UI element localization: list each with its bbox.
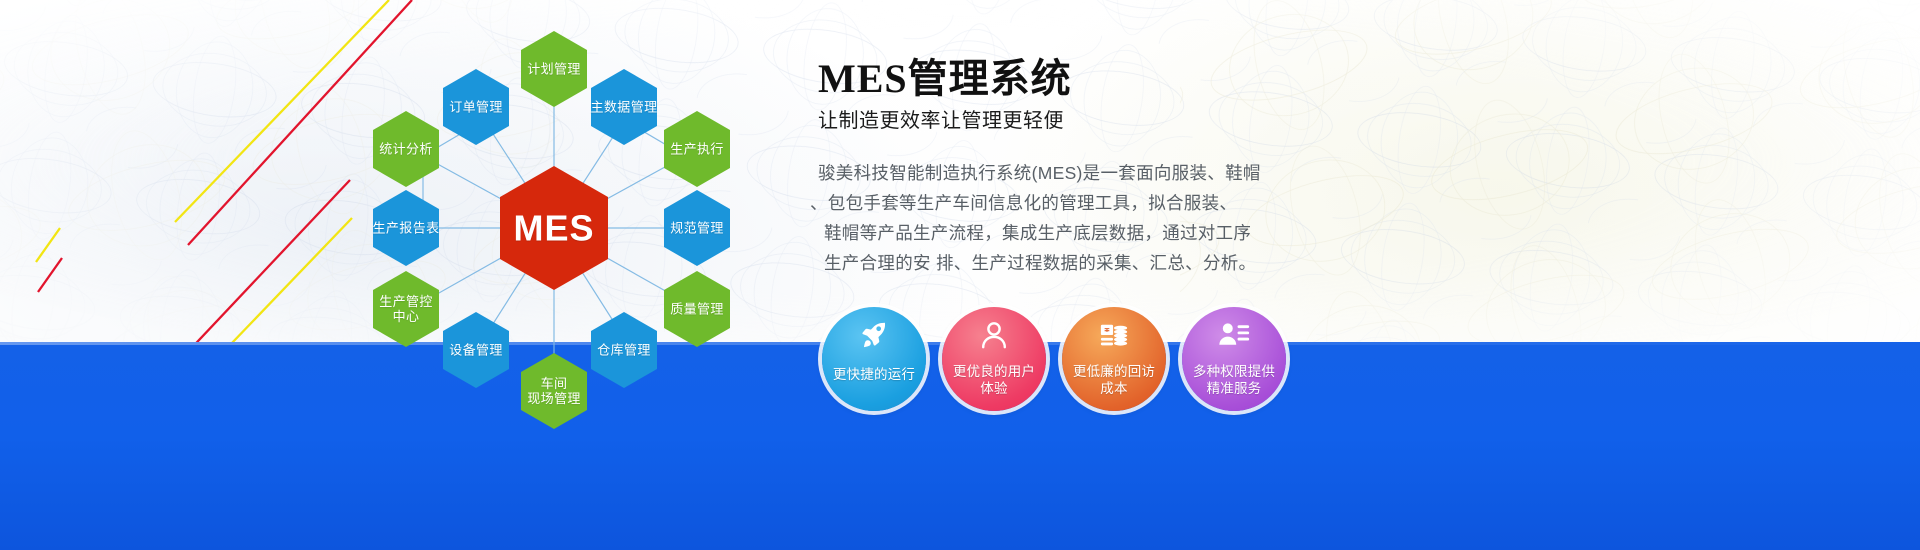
banner-stage: 计划管理 主数据管理 生产执行 规范管理 质量管理 仓库管理 车间 现场管理 设… <box>0 0 1920 550</box>
banner-paragraph: 骏美科技智能制造执行系统(MES)是一套面向服装、鞋帽 、包包手套等生产车间信息… <box>818 158 1278 278</box>
hex-node-center[interactable] <box>500 166 608 290</box>
rocket-icon <box>857 318 891 352</box>
hex-node-11[interactable] <box>443 69 509 145</box>
hex-node-9[interactable] <box>373 190 439 266</box>
badge-label-permission-service: 多种权限提供 精准服务 <box>1193 363 1275 397</box>
hex-node-5[interactable] <box>591 312 657 388</box>
badge-permission-service[interactable]: 多种权限提供 精准服务 <box>1182 307 1286 411</box>
banner-text-column: MES管理系统 让制造更效率让管理更轻便 骏美科技智能制造执行系统(MES)是一… <box>818 56 1378 278</box>
badge-better-user-experience[interactable]: 更优良的用户 体验 <box>942 307 1046 411</box>
paragraph-line-4: 生产合理的安 排、生产过程数据的采集、汇总、分析。 <box>818 248 1278 278</box>
user-icon <box>977 318 1011 352</box>
badge-label-lower-revisit-cost: 更低廉的回访 成本 <box>1073 363 1155 397</box>
hex-node-8[interactable] <box>373 271 439 347</box>
paragraph-line-1: 骏美科技智能制造执行系统(MES)是一套面向服装、鞋帽 <box>818 158 1278 188</box>
hex-node-10[interactable] <box>373 111 439 187</box>
hex-node-0[interactable] <box>521 31 587 107</box>
banner-subtitle: 让制造更效率让管理更轻便 <box>818 108 1378 134</box>
permission-icon <box>1217 318 1251 352</box>
paragraph-line-2: 、包包手套等生产车间信息化的管理工具，拟合服装、 <box>818 188 1278 218</box>
badge-label-better-user-experience: 更优良的用户 体验 <box>953 363 1035 397</box>
paragraph-line-3: 鞋帽等产品生产流程，集成生产底层数据，通过对工序 <box>818 218 1278 248</box>
banner-title: MES管理系统 <box>818 56 1378 102</box>
money-icon <box>1097 318 1131 352</box>
hex-node-6[interactable] <box>521 353 587 429</box>
hexagon-diagram-svg <box>330 10 800 450</box>
hex-node-7[interactable] <box>443 312 509 388</box>
hex-node-3[interactable] <box>664 190 730 266</box>
hex-node-4[interactable] <box>664 271 730 347</box>
feature-badge-row: 更快捷的运行 更优良的用户 体验 <box>822 307 1286 411</box>
badge-lower-revisit-cost[interactable]: 更低廉的回访 成本 <box>1062 307 1166 411</box>
badge-label-faster-operation: 更快捷的运行 <box>833 366 915 397</box>
mes-hexagon-diagram: 计划管理 主数据管理 生产执行 规范管理 质量管理 仓库管理 车间 现场管理 设… <box>330 10 800 450</box>
hex-node-2[interactable] <box>664 111 730 187</box>
badge-faster-operation[interactable]: 更快捷的运行 <box>822 307 926 411</box>
